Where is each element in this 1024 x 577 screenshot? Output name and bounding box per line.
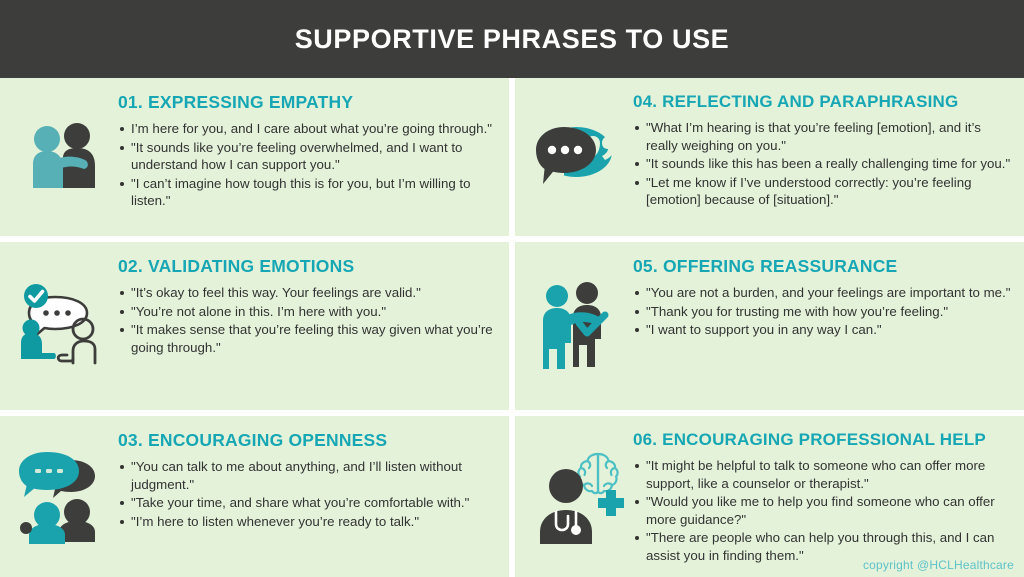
phrase-list: I’m here for you, and I care about what … bbox=[118, 120, 499, 210]
list-item: "Let me know if I’ve understood correctl… bbox=[633, 174, 1014, 209]
phrase-list: "You are not a burden, and your feelings… bbox=[633, 284, 1014, 339]
panel-body: 05. OFFERING REASSURANCE "You are not a … bbox=[633, 252, 1014, 340]
list-item: "What I’m hearing is that you’re feeling… bbox=[633, 119, 1014, 154]
list-item: "Take your time, and share what you’re c… bbox=[118, 494, 499, 512]
panel-encouraging-professional-help: 06. ENCOURAGING PROFESSIONAL HELP "It mi… bbox=[515, 416, 1024, 577]
list-item: "It sounds like you’re feeling overwhelm… bbox=[118, 139, 499, 174]
panel-body: 01. EXPRESSING EMPATHY I’m here for you,… bbox=[118, 88, 499, 211]
panel-title: 06. ENCOURAGING PROFESSIONAL HELP bbox=[633, 430, 1014, 450]
panel-validating-emotions: 02. VALIDATING EMOTIONS "It’s okay to fe… bbox=[0, 242, 509, 410]
list-item: "I want to support you in any way I can.… bbox=[633, 321, 1014, 339]
two-people-talking-bubbles-icon bbox=[8, 426, 118, 569]
panel-title: 04. REFLECTING AND PARAPHRASING bbox=[633, 92, 1014, 112]
panel-body: 04. REFLECTING AND PARAPHRASING "What I’… bbox=[633, 88, 1014, 210]
panel-body: 03. ENCOURAGING OPENNESS "You can talk t… bbox=[118, 426, 499, 531]
panel-expressing-empathy: 01. EXPRESSING EMPATHY I’m here for you,… bbox=[0, 78, 509, 236]
phrase-list: "It might be helpful to talk to someone … bbox=[633, 457, 1014, 564]
copyright-notice: copyright @HCLHealthcare bbox=[863, 558, 1014, 572]
list-item: "You are not a burden, and your feelings… bbox=[633, 284, 1014, 302]
list-item: "You’re not alone in this. I’m here with… bbox=[118, 303, 499, 321]
panel-grid: 01. EXPRESSING EMPATHY I’m here for you,… bbox=[0, 78, 1024, 577]
panel-title: 02. VALIDATING EMOTIONS bbox=[118, 256, 499, 277]
infographic-page: SUPPORTIVE PHRASES TO USE 01. EXPRESSING… bbox=[0, 0, 1024, 577]
list-item: "It sounds like this has been a really c… bbox=[633, 155, 1014, 173]
list-item: "Would you like me to help you find some… bbox=[633, 493, 1014, 528]
panel-body: 02. VALIDATING EMOTIONS "It’s okay to fe… bbox=[118, 252, 499, 357]
panel-title: 03. ENCOURAGING OPENNESS bbox=[118, 430, 499, 451]
panel-body: 06. ENCOURAGING PROFESSIONAL HELP "It mi… bbox=[633, 426, 1014, 565]
header-bar: SUPPORTIVE PHRASES TO USE bbox=[0, 0, 1024, 78]
page-title: SUPPORTIVE PHRASES TO USE bbox=[295, 24, 730, 55]
two-people-embrace-seated-icon bbox=[8, 88, 118, 228]
doctor-brain-cross-icon bbox=[523, 426, 633, 569]
panel-title: 01. EXPRESSING EMPATHY bbox=[118, 92, 499, 113]
phrase-list: "What I’m hearing is that you’re feeling… bbox=[633, 119, 1014, 209]
list-item: "It might be helpful to talk to someone … bbox=[633, 457, 1014, 492]
two-people-standing-arm-around-icon bbox=[523, 252, 633, 402]
panel-reflecting-and-paraphrasing: 04. REFLECTING AND PARAPHRASING "What I’… bbox=[515, 78, 1024, 236]
speech-bubble-quote-icon bbox=[523, 88, 633, 228]
list-item: "You can talk to me about anything, and … bbox=[118, 458, 499, 493]
panel-encouraging-openness: 03. ENCOURAGING OPENNESS "You can talk t… bbox=[0, 416, 509, 577]
seated-people-check-bubble-icon bbox=[8, 252, 118, 402]
list-item: "Thank you for trusting me with how you’… bbox=[633, 303, 1014, 321]
list-item: I’m here for you, and I care about what … bbox=[118, 120, 499, 138]
panel-title: 05. OFFERING REASSURANCE bbox=[633, 256, 1014, 277]
list-item: "It makes sense that you’re feeling this… bbox=[118, 321, 499, 356]
panel-offering-reassurance: 05. OFFERING REASSURANCE "You are not a … bbox=[515, 242, 1024, 410]
list-item: "I’m here to listen whenever you’re read… bbox=[118, 513, 499, 531]
phrase-list: "You can talk to me about anything, and … bbox=[118, 458, 499, 530]
list-item: "It’s okay to feel this way. Your feelin… bbox=[118, 284, 499, 302]
phrase-list: "It’s okay to feel this way. Your feelin… bbox=[118, 284, 499, 356]
list-item: "I can’t imagine how tough this is for y… bbox=[118, 175, 499, 210]
